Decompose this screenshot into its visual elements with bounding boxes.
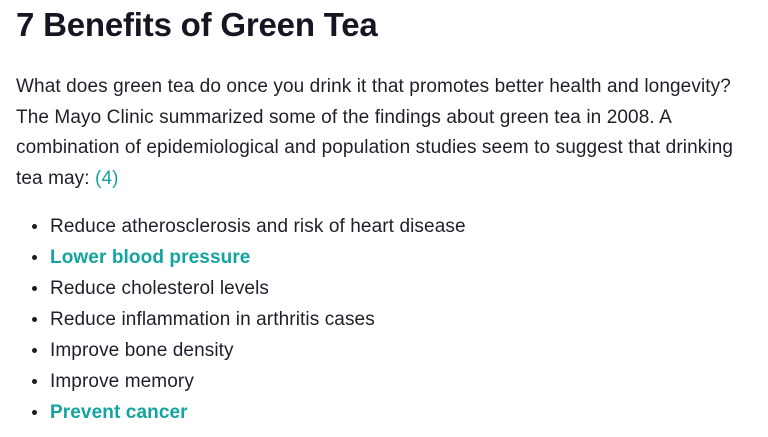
benefits-list: Reduce atherosclerosis and risk of heart… (16, 211, 768, 428)
article-body: 7 Benefits of Green Tea What does green … (0, 0, 768, 437)
citation-close-paren: ) (112, 168, 118, 189)
list-item: Reduce cholesterol levels (50, 273, 768, 304)
list-item: Reduce atherosclerosis and risk of heart… (50, 211, 768, 242)
intro-text: What does green tea do once you drink it… (16, 76, 733, 189)
page-title: 7 Benefits of Green Tea (16, 4, 378, 46)
benefit-label: Improve memory (50, 371, 194, 392)
benefit-label: Reduce cholesterol levels (50, 278, 269, 299)
list-item: Reduce inflammation in arthritis cases (50, 304, 768, 335)
benefit-label: Reduce inflammation in arthritis cases (50, 309, 375, 330)
benefit-label: Prevent cancer (50, 402, 188, 423)
list-item: Improve memory (50, 366, 768, 397)
citation-number: 4 (101, 168, 112, 189)
list-item: Prevent cancer (50, 397, 768, 428)
benefit-label: Improve bone density (50, 340, 234, 361)
benefit-label: Lower blood pressure (50, 247, 250, 268)
benefit-label: Reduce atherosclerosis and risk of heart… (50, 216, 466, 237)
citation-link-4[interactable]: (4) (95, 168, 119, 189)
list-item: Improve bone density (50, 335, 768, 366)
intro-paragraph: What does green tea do once you drink it… (16, 72, 752, 194)
list-item: Lower blood pressure (50, 242, 768, 273)
